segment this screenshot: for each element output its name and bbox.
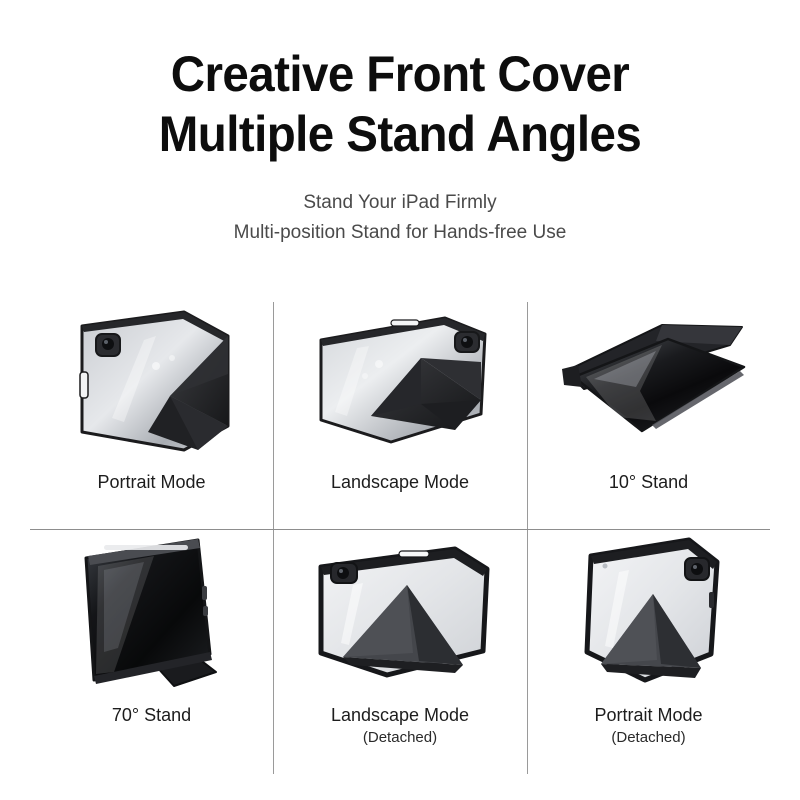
caption-text: 10° Stand [609, 472, 688, 492]
caption-portrait-mode: Portrait Mode [97, 470, 205, 494]
header: Creative Front Cover Multiple Stand Angl… [0, 44, 800, 248]
subtitle-line-2: Multi-position Stand for Hands-free Use [0, 218, 800, 248]
caption-text: Portrait Mode [594, 705, 702, 725]
grid-cell-portrait-mode: Portrait Mode [30, 296, 273, 529]
caption-sub-text: (Detached) [594, 727, 702, 749]
tablet-case-origami-landscape-icon [295, 300, 505, 460]
caption-landscape-mode: Landscape Mode [331, 470, 469, 494]
product-image-portrait-mode-detached [527, 529, 770, 697]
grid-cell-portrait-mode-detached: Portrait Mode (Detached) [527, 529, 770, 780]
caption-text: Portrait Mode [97, 472, 205, 492]
product-image-portrait-mode [30, 296, 273, 464]
feature-grid: Portrait Mode [30, 296, 770, 780]
caption-text: Landscape Mode [331, 472, 469, 492]
infographic-page: Creative Front Cover Multiple Stand Angl… [0, 0, 800, 800]
product-image-landscape-mode-detached [273, 529, 527, 697]
product-image-ten-degree-stand [527, 296, 770, 464]
caption-landscape-mode-detached: Landscape Mode (Detached) [331, 703, 469, 749]
caption-portrait-mode-detached: Portrait Mode (Detached) [594, 703, 702, 749]
caption-text: Landscape Mode [331, 705, 469, 725]
tablet-case-origami-portrait-icon [52, 300, 252, 460]
grid-cell-ten-degree-stand: 10° Stand [527, 296, 770, 529]
clear-case-triangle-portrait-icon [549, 528, 749, 698]
clear-case-triangle-landscape-icon [295, 533, 505, 693]
caption-sub-text: (Detached) [331, 727, 469, 749]
page-title: Creative Front Cover Multiple Stand Angl… [20, 44, 780, 164]
title-line-1: Creative Front Cover [171, 46, 629, 102]
caption-text: 70° Stand [112, 705, 191, 725]
product-image-seventy-degree-stand [30, 529, 273, 697]
caption-seventy-degree-stand: 70° Stand [112, 703, 191, 727]
grid-cell-landscape-mode: Landscape Mode [273, 296, 527, 529]
grid-cell-seventy-degree-stand: 70° Stand [30, 529, 273, 780]
product-image-landscape-mode [273, 296, 527, 464]
page-subtitle: Stand Your iPad Firmly Multi-position St… [0, 188, 800, 248]
subtitle-line-1: Stand Your iPad Firmly [303, 192, 496, 213]
tablet-upright-kickstand-icon [52, 526, 252, 701]
grid-cell-landscape-mode-detached: Landscape Mode (Detached) [273, 529, 527, 780]
title-line-2: Multiple Stand Angles [20, 104, 780, 164]
tablet-low-angle-typing-stand-icon [544, 305, 754, 455]
caption-ten-degree-stand: 10° Stand [609, 470, 688, 494]
